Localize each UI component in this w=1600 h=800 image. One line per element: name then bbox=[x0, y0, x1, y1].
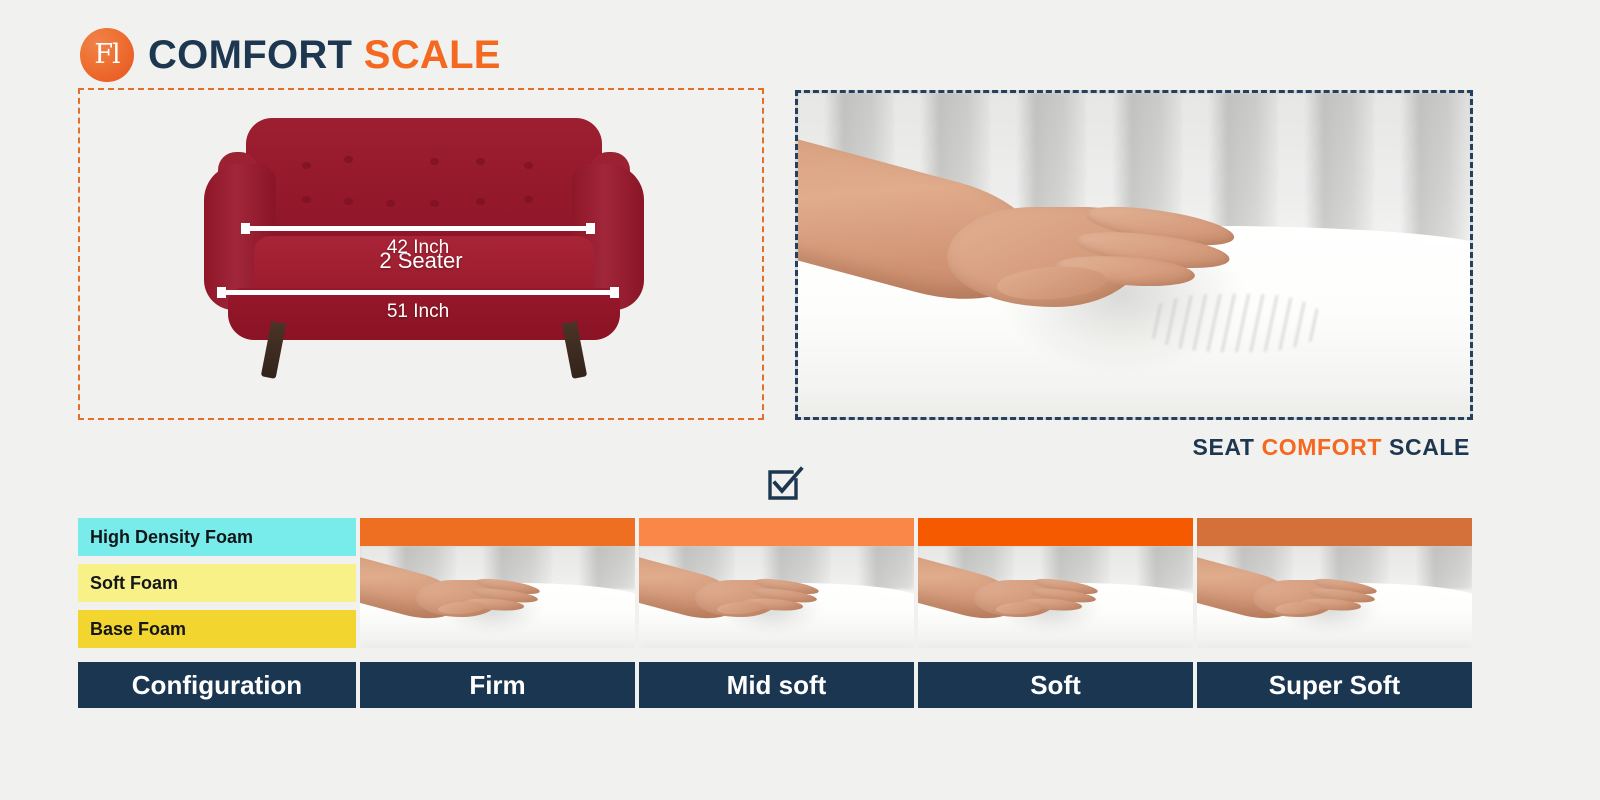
furniture-logo-icon: Fl bbox=[80, 28, 134, 82]
seat-width-dimension-line bbox=[242, 226, 594, 231]
sofa-tuft bbox=[430, 200, 439, 207]
variant-color-bar bbox=[1197, 518, 1472, 546]
sofa-tuft bbox=[344, 156, 353, 163]
table-footer-row: Configuration Firm Mid soft Soft Super S… bbox=[78, 662, 1472, 708]
overall-width-label: 51 Inch bbox=[218, 301, 618, 323]
foam-layer-label: Base Foam bbox=[90, 619, 186, 640]
footer-variant-firm[interactable]: Firm bbox=[360, 662, 635, 708]
foam-layer-label: High Density Foam bbox=[90, 527, 253, 548]
sofa-tuft bbox=[524, 196, 533, 203]
hand-graphic bbox=[918, 548, 1116, 623]
variant-column-firm[interactable] bbox=[360, 518, 635, 648]
footer-configuration-label: Configuration bbox=[78, 662, 356, 708]
hand-graphic bbox=[1197, 548, 1395, 623]
sofa-tuft bbox=[302, 162, 311, 169]
sofa-tuft bbox=[302, 196, 311, 203]
variant-column-super-soft[interactable] bbox=[1197, 518, 1472, 648]
foam-layers-column: High Density Foam Soft Foam Base Foam bbox=[78, 518, 356, 648]
variant-color-bar bbox=[639, 518, 914, 546]
sofa-tuft bbox=[430, 158, 439, 165]
sofa-tuft bbox=[524, 162, 533, 169]
hand-graphic bbox=[639, 548, 837, 623]
foam-layer-high-density: High Density Foam bbox=[78, 518, 356, 556]
foam-layer-base: Base Foam bbox=[78, 610, 356, 648]
sofa-illustration: 2 Seater 42 Inch 51 Inch bbox=[80, 90, 762, 418]
page-title: COMFORT SCALE bbox=[148, 35, 501, 75]
comfort-scale-table: High Density Foam Soft Foam Base Foam bbox=[78, 518, 1472, 708]
hand-graphic bbox=[795, 122, 1275, 323]
hand-pressing-foam-photo bbox=[1197, 546, 1472, 648]
page-title-accent: SCALE bbox=[364, 33, 501, 77]
sofa-tuft bbox=[476, 198, 485, 205]
page-title-primary: COMFORT bbox=[148, 33, 352, 77]
variant-color-bar bbox=[918, 518, 1193, 546]
caption-part-comfort: COMFORT bbox=[1262, 434, 1382, 460]
seat-width-label: 42 Inch bbox=[242, 237, 594, 259]
footer-variant-super-soft[interactable]: Super Soft bbox=[1197, 662, 1472, 708]
caption-part-seat: SEAT bbox=[1193, 434, 1262, 460]
footer-variant-mid-soft[interactable]: Mid soft bbox=[639, 662, 914, 708]
logo-glyph: Fl bbox=[80, 28, 134, 82]
hand-pressing-foam-photo bbox=[639, 546, 914, 648]
comfort-scale-page: Fl COMFORT SCALE bbox=[0, 0, 1600, 800]
caption-part-scale: SCALE bbox=[1389, 434, 1470, 460]
overall-width-dimension-line bbox=[218, 290, 618, 295]
foam-layer-soft: Soft Foam bbox=[78, 564, 356, 602]
hand-pressing-foam-photo bbox=[360, 546, 635, 648]
variant-card[interactable] bbox=[918, 518, 1193, 648]
table-body-row: High Density Foam Soft Foam Base Foam bbox=[78, 518, 1472, 648]
variant-column-mid-soft[interactable] bbox=[639, 518, 914, 648]
sofa-tuft bbox=[386, 200, 395, 207]
variant-card[interactable] bbox=[639, 518, 914, 648]
page-header: Fl COMFORT SCALE bbox=[80, 28, 501, 82]
hand-pressing-foam-photo bbox=[918, 546, 1193, 648]
seat-comfort-photo-panel bbox=[795, 90, 1473, 420]
footer-variant-soft[interactable]: Soft bbox=[918, 662, 1193, 708]
checkbox-checked-icon[interactable] bbox=[762, 462, 806, 506]
variant-color-bar bbox=[360, 518, 635, 546]
seat-comfort-scale-caption: SEAT COMFORT SCALE bbox=[1193, 434, 1470, 461]
variant-card[interactable] bbox=[1197, 518, 1472, 648]
variant-card[interactable] bbox=[360, 518, 635, 648]
sofa-tuft bbox=[476, 158, 485, 165]
variant-column-soft[interactable] bbox=[918, 518, 1193, 648]
foam-layer-label: Soft Foam bbox=[90, 573, 178, 594]
sofa-tuft bbox=[344, 198, 353, 205]
hand-graphic bbox=[360, 548, 558, 623]
hand-pressing-foam-photo bbox=[798, 93, 1470, 417]
sofa-dimensions-panel: 2 Seater 42 Inch 51 Inch bbox=[78, 88, 764, 420]
